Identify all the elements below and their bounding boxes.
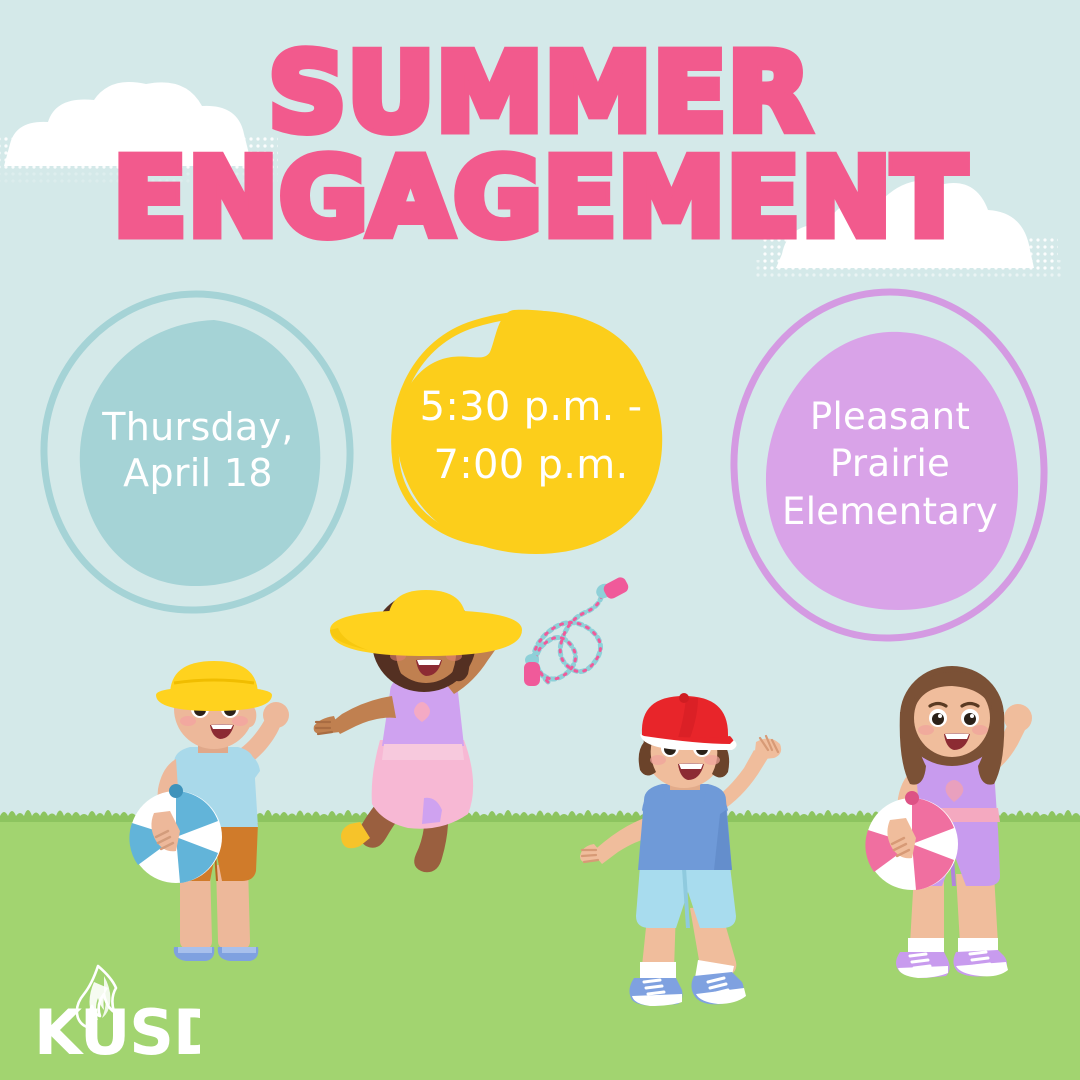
poster-title: SUMMER ENGAGEMENT xyxy=(0,44,1080,249)
location-bubble-icon xyxy=(722,278,1058,650)
info-bubble-location: Pleasant Prairie Elementary xyxy=(722,278,1058,650)
date-bubble-icon xyxy=(18,272,378,632)
time-bubble-icon xyxy=(366,296,696,576)
title-line-2: ENGAGEMENT xyxy=(0,149,1080,248)
jump-rope-icon xyxy=(500,570,630,695)
kusd-logo[interactable]: KUSD xyxy=(32,962,200,1058)
logo-text: KUSD xyxy=(34,996,200,1058)
kid-boy-with-red-cap xyxy=(578,690,798,1020)
kid-boy-with-beach-ball xyxy=(118,655,308,985)
info-bubble-date: Thursday, April 18 xyxy=(18,272,378,632)
info-bubble-time: 5:30 p.m. - 7:00 p.m. xyxy=(366,296,696,576)
kid-girl-with-pink-beach-ball xyxy=(852,662,1062,992)
title-line-1: SUMMER xyxy=(0,44,1080,143)
summer-engagement-poster: SUMMER ENGAGEMENT Thursday, April 18 5:3… xyxy=(0,0,1080,1080)
